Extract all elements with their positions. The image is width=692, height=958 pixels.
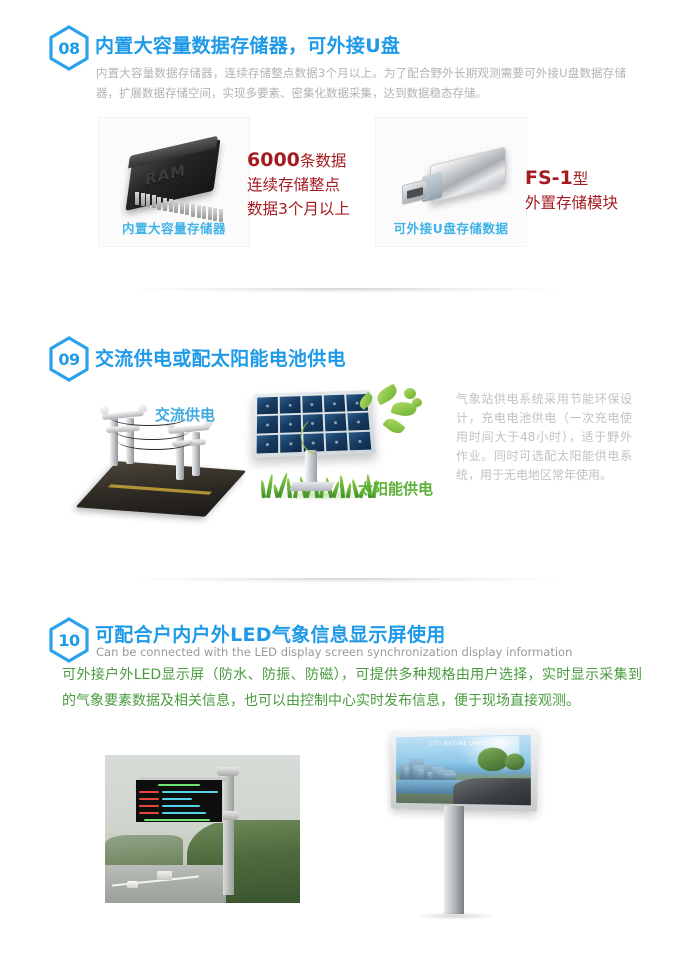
- section-subtitle-en: Can be connected with the LED display sc…: [96, 645, 572, 659]
- section-number-text: 10: [48, 617, 90, 663]
- billboard-post: [444, 806, 464, 914]
- highway-led-photo: [105, 755, 300, 903]
- section-divider: [60, 288, 632, 295]
- outdoor-billboard-illustration: CITY NATURE LANDSCAPE: [386, 730, 566, 925]
- memory-callout-unit: 条数据: [300, 152, 347, 170]
- usb-drive-illustration: [396, 140, 516, 220]
- usb-callout-suffix: 型: [573, 170, 589, 188]
- memory-callout-number: 6000: [247, 149, 300, 171]
- billboard-headline: CITY NATURE LANDSCAPE: [429, 741, 505, 748]
- section-description: 内置大容量数据存储器，连续存储整点数据3个月以上。为了配合野外长期观测需要可外接…: [96, 63, 626, 103]
- power-wire: [118, 432, 192, 450]
- product-card-usb: 可外接U盘存储数据: [375, 117, 527, 247]
- section-number-text: 09: [48, 336, 90, 382]
- section-number-badge-10: 10: [48, 617, 90, 663]
- section-title: 交流供电或配太阳能电池供电: [95, 344, 346, 371]
- product-card-memory: RAM 内置大容量存储器: [98, 117, 250, 247]
- section-number-badge-09: 09: [48, 336, 90, 382]
- product-card-caption: 内置大容量存储器: [99, 218, 249, 237]
- section-title: 可配合户内户外LED气象信息显示屏使用: [95, 620, 446, 647]
- memory-callout: 6000条数据 连续存储整点 数据3个月以上: [247, 148, 350, 221]
- section-number-badge-08: 08: [48, 25, 90, 71]
- section-title: 内置大容量数据存储器，可外接U盘: [95, 31, 400, 58]
- billboard-screen: CITY NATURE LANDSCAPE: [396, 735, 531, 806]
- ac-power-label: 交流供电: [155, 404, 215, 425]
- memory-callout-line3: 数据3个月以上: [247, 197, 350, 221]
- billboard-frame: CITY NATURE LANDSCAPE: [391, 728, 537, 811]
- ram-chip-illustration: RAM: [123, 144, 229, 218]
- display-support-pole: [223, 771, 234, 895]
- section-description: 可外接户外LED显示屏（防水、防振、防磁），可提供多种规格由用户选择，实时显示采…: [62, 662, 642, 714]
- truck: [157, 871, 172, 880]
- usb-callout: FS-1型 外置存储模块: [525, 166, 618, 215]
- section-divider: [60, 578, 632, 585]
- car: [127, 881, 138, 888]
- product-feature-page: 08 内置大容量数据存储器，可外接U盘 内置大容量数据存储器，连续存储整点数据3…: [0, 0, 692, 958]
- memory-callout-line2: 连续存储整点: [247, 173, 350, 197]
- product-card-caption: 可外接U盘存储数据: [376, 218, 526, 237]
- solar-power-label: 太阳能供电: [358, 478, 433, 499]
- usb-callout-line2: 外置存储模块: [525, 191, 618, 215]
- section-number-text: 08: [48, 25, 90, 71]
- section-side-description: 气象站供电系统采用节能环保设计，充电电池供电（一次充电使用时间大于48小时），适…: [456, 390, 632, 485]
- vine-decoration: [300, 386, 440, 466]
- usb-callout-model: FS-1: [525, 167, 573, 189]
- led-display-screen: [135, 779, 223, 823]
